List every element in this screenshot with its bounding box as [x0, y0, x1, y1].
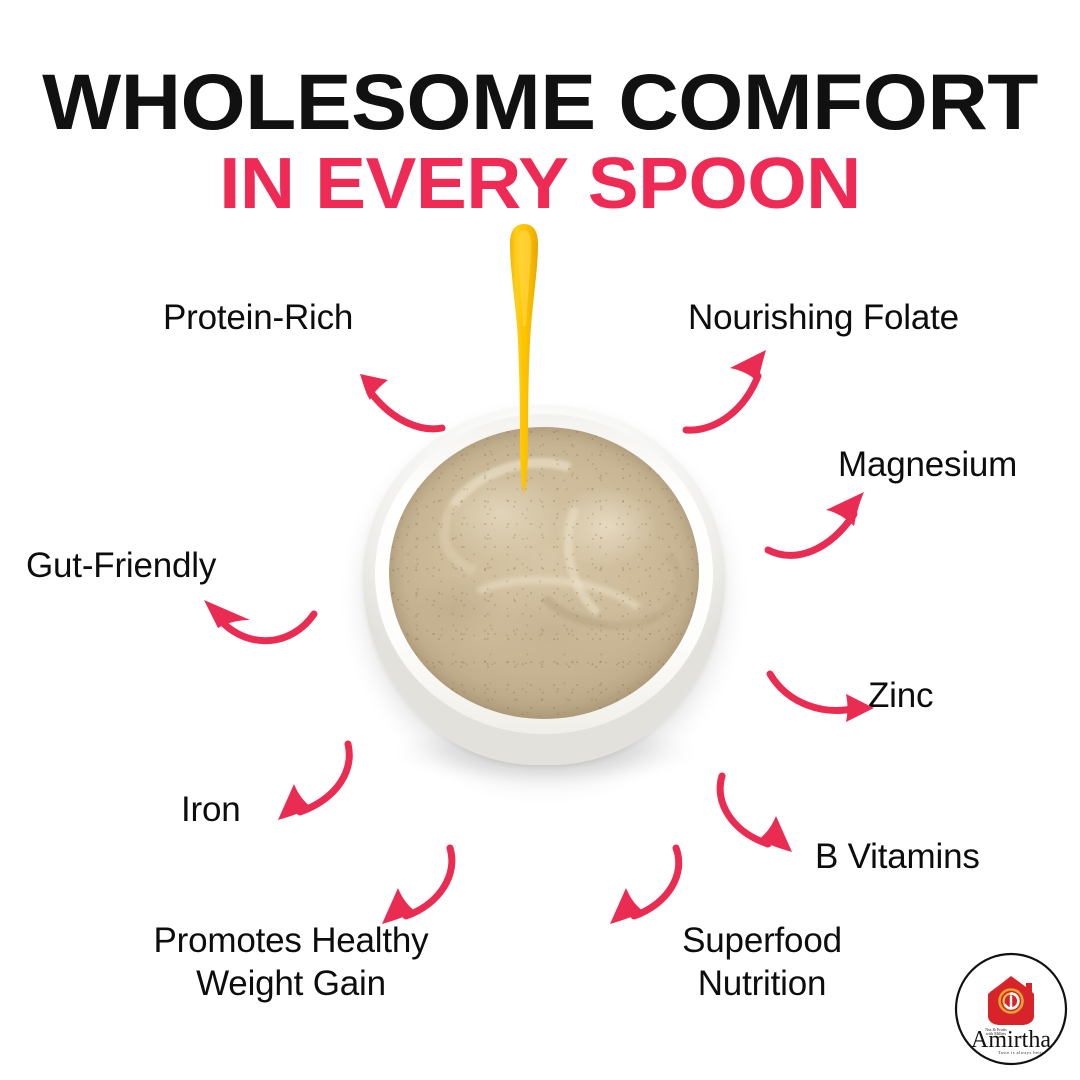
arrow-to-b-vitamins-icon — [706, 768, 816, 864]
arrow-to-zinc-icon — [762, 660, 882, 732]
logo-tagline: Taste is always better — [998, 1050, 1046, 1055]
headline-line-2: IN EVERY SPOON — [0, 148, 1080, 220]
benefit-label-iron: Iron — [181, 789, 241, 832]
product-bowl-image — [363, 405, 725, 795]
infographic-poster: WHOLESOME COMFORT IN EVERY SPOON — [0, 0, 1080, 1080]
arrow-to-weight-gain-icon — [360, 840, 470, 936]
brand-logo[interactable]: Nut & Fruits with Millets Amirtha Taste … — [954, 952, 1068, 1066]
spoon-icon — [504, 222, 544, 502]
benefit-label-b-vitamins: B Vitamins — [815, 836, 980, 879]
arrow-to-nourishing-folate-icon — [680, 338, 810, 442]
porridge-swirl — [520, 511, 693, 640]
logo-swirl-icon — [1000, 990, 1023, 1013]
porridge-swirl — [449, 566, 664, 683]
arrow-to-superfood-nutrition-icon — [588, 840, 698, 936]
arrow-to-magnesium-icon — [758, 478, 890, 570]
headline-line-1: WHOLESOME COMFORT — [0, 62, 1080, 141]
arrow-to-gut-friendly-icon — [188, 578, 322, 662]
porridge-swirl — [551, 470, 684, 638]
benefit-label-protein-rich: Protein-Rich — [163, 297, 353, 340]
benefit-label-nourishing-folate: Nourishing Folate — [688, 297, 959, 340]
arrow-to-iron-icon — [256, 736, 366, 832]
arrow-to-protein-rich-icon — [330, 348, 460, 448]
porridge-surface — [389, 427, 699, 719]
